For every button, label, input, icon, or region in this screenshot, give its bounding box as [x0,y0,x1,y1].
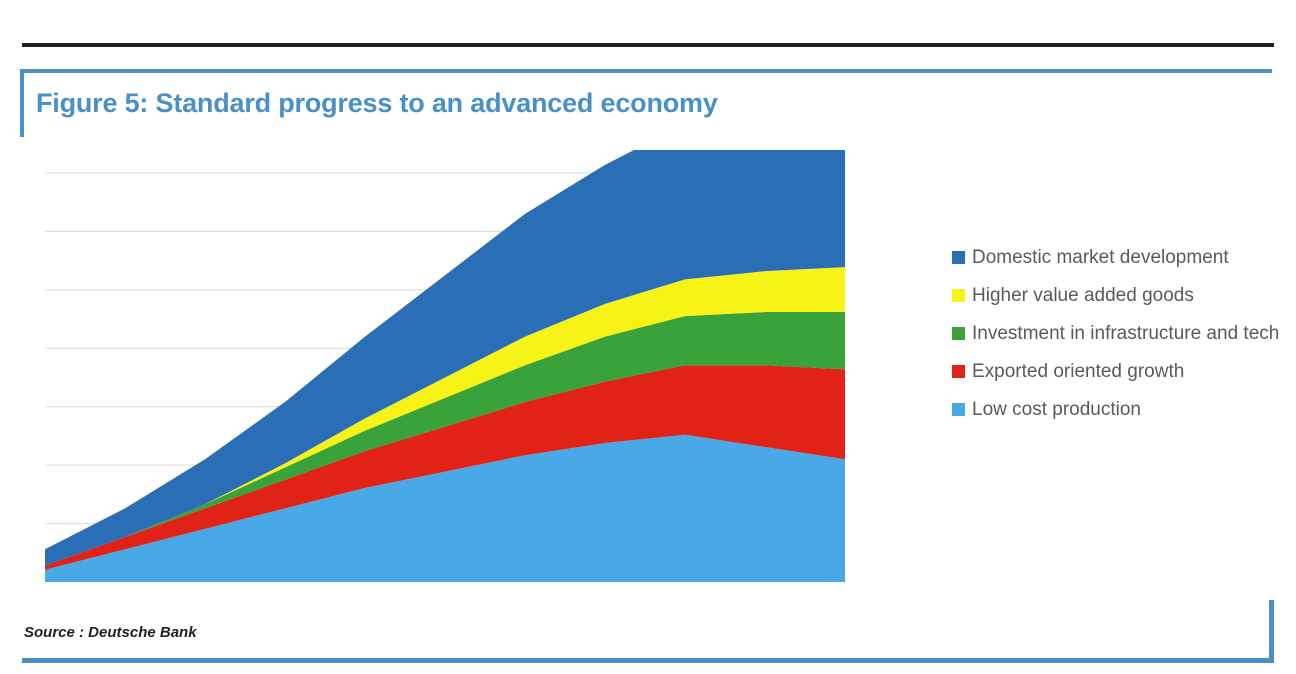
source-note: Source : Deutsche Bank [24,624,197,641]
page-top-rule [22,43,1274,47]
legend-item[interactable]: Investment in infrastructure and tech [952,322,1282,346]
figure-frame-bottom [22,658,1274,663]
legend-item[interactable]: Higher value added goods [952,284,1282,308]
legend-swatch-icon [952,289,965,302]
legend-item[interactable]: Domestic market development [952,246,1282,270]
chart-legend: Domestic market developmentHigher value … [952,246,1282,436]
legend-item-label: Domestic market development [972,246,1229,270]
legend-swatch-icon [952,403,965,416]
figure-frame-left [20,69,24,137]
legend-item-label: Higher value added goods [972,284,1194,308]
legend-item-label: Investment in infrastructure and tech [972,322,1279,346]
legend-item[interactable]: Low cost production [952,398,1282,422]
legend-item-label: Exported oriented growth [972,360,1184,384]
figure-frame-top [20,69,1272,73]
legend-item[interactable]: Exported oriented growth [952,360,1282,384]
legend-swatch-icon [952,251,965,264]
legend-swatch-icon [952,365,965,378]
legend-swatch-icon [952,327,965,340]
legend-item-label: Low cost production [972,398,1141,422]
figure-title: Figure 5: Standard progress to an advanc… [36,88,718,119]
figure-frame-right [1269,600,1274,663]
